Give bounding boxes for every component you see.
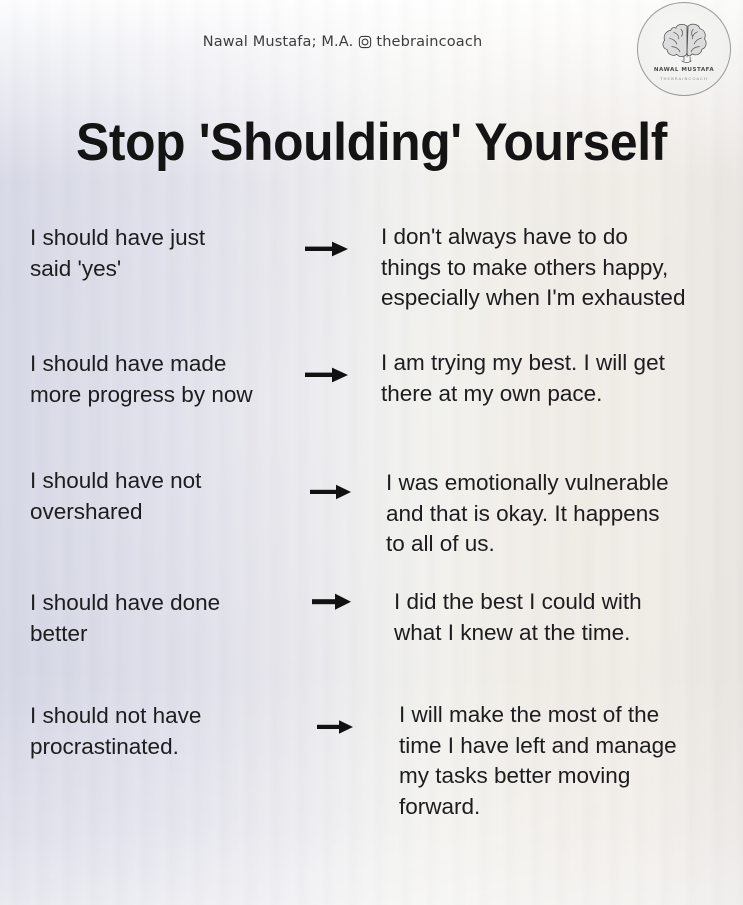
arrow-right-icon	[317, 718, 354, 736]
arrow-right-icon	[312, 592, 352, 612]
should-line: said 'yes'	[30, 253, 298, 284]
reframe-line: I did the best I could with	[394, 587, 730, 618]
credit-line: Nawal Mustafa; M.A. thebraincoach	[0, 34, 743, 50]
reframe-row: I should have made more progress by now …	[30, 348, 730, 410]
should-line: I should have not	[30, 465, 298, 496]
reframe-line: things to make others happy,	[381, 253, 730, 284]
should-line: procrastinated.	[30, 731, 298, 762]
reframe-line: and that is okay. It happens	[386, 499, 730, 530]
arrow-right-icon	[310, 483, 352, 501]
reframe-row: I should have done better I did the best…	[30, 587, 730, 649]
reframe-row: I should not have procrastinated. I will…	[30, 700, 730, 822]
arrow-cell	[298, 465, 386, 501]
brand-logo-badge: NAWAL MUSTAFA THEBRAINCOACH	[637, 2, 731, 96]
should-line: more progress by now	[30, 379, 298, 410]
logo-brand-name: NAWAL MUSTAFA	[654, 67, 714, 73]
should-statement: I should have done better	[30, 587, 298, 649]
reframe-statement: I am trying my best. I will get there at…	[381, 348, 730, 409]
arrow-right-icon	[305, 366, 349, 384]
should-line: I should have done	[30, 587, 298, 618]
author-name: Nawal Mustafa; M.A.	[203, 34, 354, 50]
should-line: better	[30, 618, 298, 649]
should-line: I should have just	[30, 222, 298, 253]
reframe-line: I am trying my best. I will get	[381, 348, 730, 379]
reframe-line: my tasks better moving	[399, 761, 730, 792]
reframe-line: I don't always have to do	[381, 222, 730, 253]
should-statement: I should have not overshared	[30, 465, 298, 527]
reframe-line: I was emotionally vulnerable	[386, 468, 730, 499]
reframe-line: time I have left and manage	[399, 731, 730, 762]
reframe-line: especially when I'm exhausted	[381, 283, 730, 314]
reframe-statement: I was emotionally vulnerable and that is…	[386, 465, 730, 560]
poster-canvas: Nawal Mustafa; M.A. thebraincoach NAWAL …	[0, 0, 743, 905]
reframe-line: to all of us.	[386, 529, 730, 560]
brain-icon	[658, 20, 710, 64]
arrow-cell	[298, 587, 388, 612]
should-statement: I should not have procrastinated.	[30, 700, 298, 762]
reframe-line: there at my own pace.	[381, 379, 730, 410]
should-statement: I should have just said 'yes'	[30, 222, 298, 284]
arrow-cell	[298, 700, 393, 736]
logo-brand-handle: THEBRAINCOACH	[660, 76, 708, 81]
reframe-row: I should have not overshared I was emoti…	[30, 465, 730, 560]
reframe-statement: I will make the most of the time I have …	[393, 700, 730, 822]
reframe-statement: I don't always have to do things to make…	[381, 222, 730, 314]
should-line: overshared	[30, 496, 298, 527]
arrow-right-icon	[305, 240, 349, 258]
reframe-line: forward.	[399, 792, 730, 823]
reframe-statement: I did the best I could with what I knew …	[388, 587, 730, 648]
instagram-icon	[358, 35, 372, 49]
should-line: I should have made	[30, 348, 298, 379]
arrow-cell	[298, 222, 381, 258]
arrow-cell	[298, 348, 381, 384]
should-statement: I should have made more progress by now	[30, 348, 298, 410]
instagram-handle: thebraincoach	[376, 34, 482, 50]
reframe-line: what I knew at the time.	[394, 618, 730, 649]
page-title: Stop 'Shoulding' Yourself	[22, 112, 720, 174]
reframe-line: I will make the most of the	[399, 700, 730, 731]
should-line: I should not have	[30, 700, 298, 731]
reframe-row: I should have just said 'yes' I don't al…	[30, 222, 730, 314]
